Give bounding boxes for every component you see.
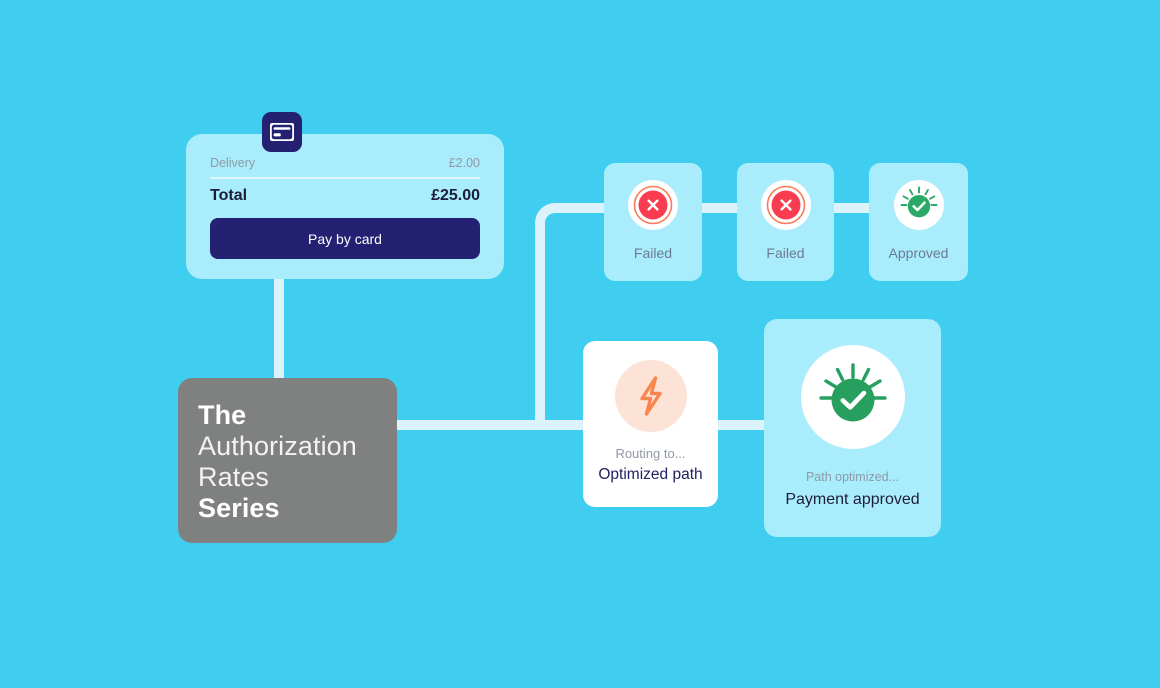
approved-subtitle: Path optimized... (806, 470, 899, 484)
status-label: Approved (889, 245, 949, 261)
failed-circle-x-icon (761, 180, 811, 230)
total-label: Total (210, 187, 247, 205)
status-box-failed-1[interactable]: Failed (604, 163, 702, 281)
connector-riser-vertical (535, 240, 545, 430)
title-line-2: Authorization (198, 431, 397, 462)
status-label: Failed (766, 245, 804, 261)
lightning-bolt-icon (615, 360, 687, 432)
pay-by-card-button[interactable]: Pay by card (210, 218, 480, 259)
payment-summary-card: Delivery £2.00 Total £25.00 Pay by card (186, 134, 504, 279)
title-line-3: Rates (198, 462, 397, 493)
delivery-label: Delivery (210, 156, 255, 170)
status-box-failed-2[interactable]: Failed (737, 163, 834, 281)
status-label: Failed (634, 245, 672, 261)
routing-card[interactable]: Routing to... Optimized path (583, 341, 718, 507)
credit-card-icon (262, 112, 302, 152)
delivery-value: £2.00 (449, 156, 480, 170)
connector-card-to-title (274, 275, 284, 385)
series-title-block: The Authorization Rates Series (178, 378, 397, 543)
delivery-row: Delivery £2.00 (210, 156, 480, 177)
diagram-canvas: Delivery £2.00 Total £25.00 Pay by card … (0, 0, 1160, 688)
payment-approved-card[interactable]: Path optimized... Payment approved (764, 319, 941, 537)
status-box-approved[interactable]: Approved (869, 163, 968, 281)
title-line-1: The (198, 400, 397, 431)
row-divider (210, 177, 480, 179)
total-row: Total £25.00 (210, 187, 480, 205)
approved-check-burst-icon (894, 180, 944, 230)
connector-title-to-routing (390, 420, 595, 430)
approved-check-burst-icon (801, 345, 905, 449)
routing-title: Optimized path (598, 466, 702, 484)
routing-subtitle: Routing to... (615, 446, 685, 461)
total-value: £25.00 (431, 187, 480, 205)
title-line-4: Series (198, 493, 397, 524)
approved-title: Payment approved (785, 491, 919, 509)
failed-circle-x-icon (628, 180, 678, 230)
